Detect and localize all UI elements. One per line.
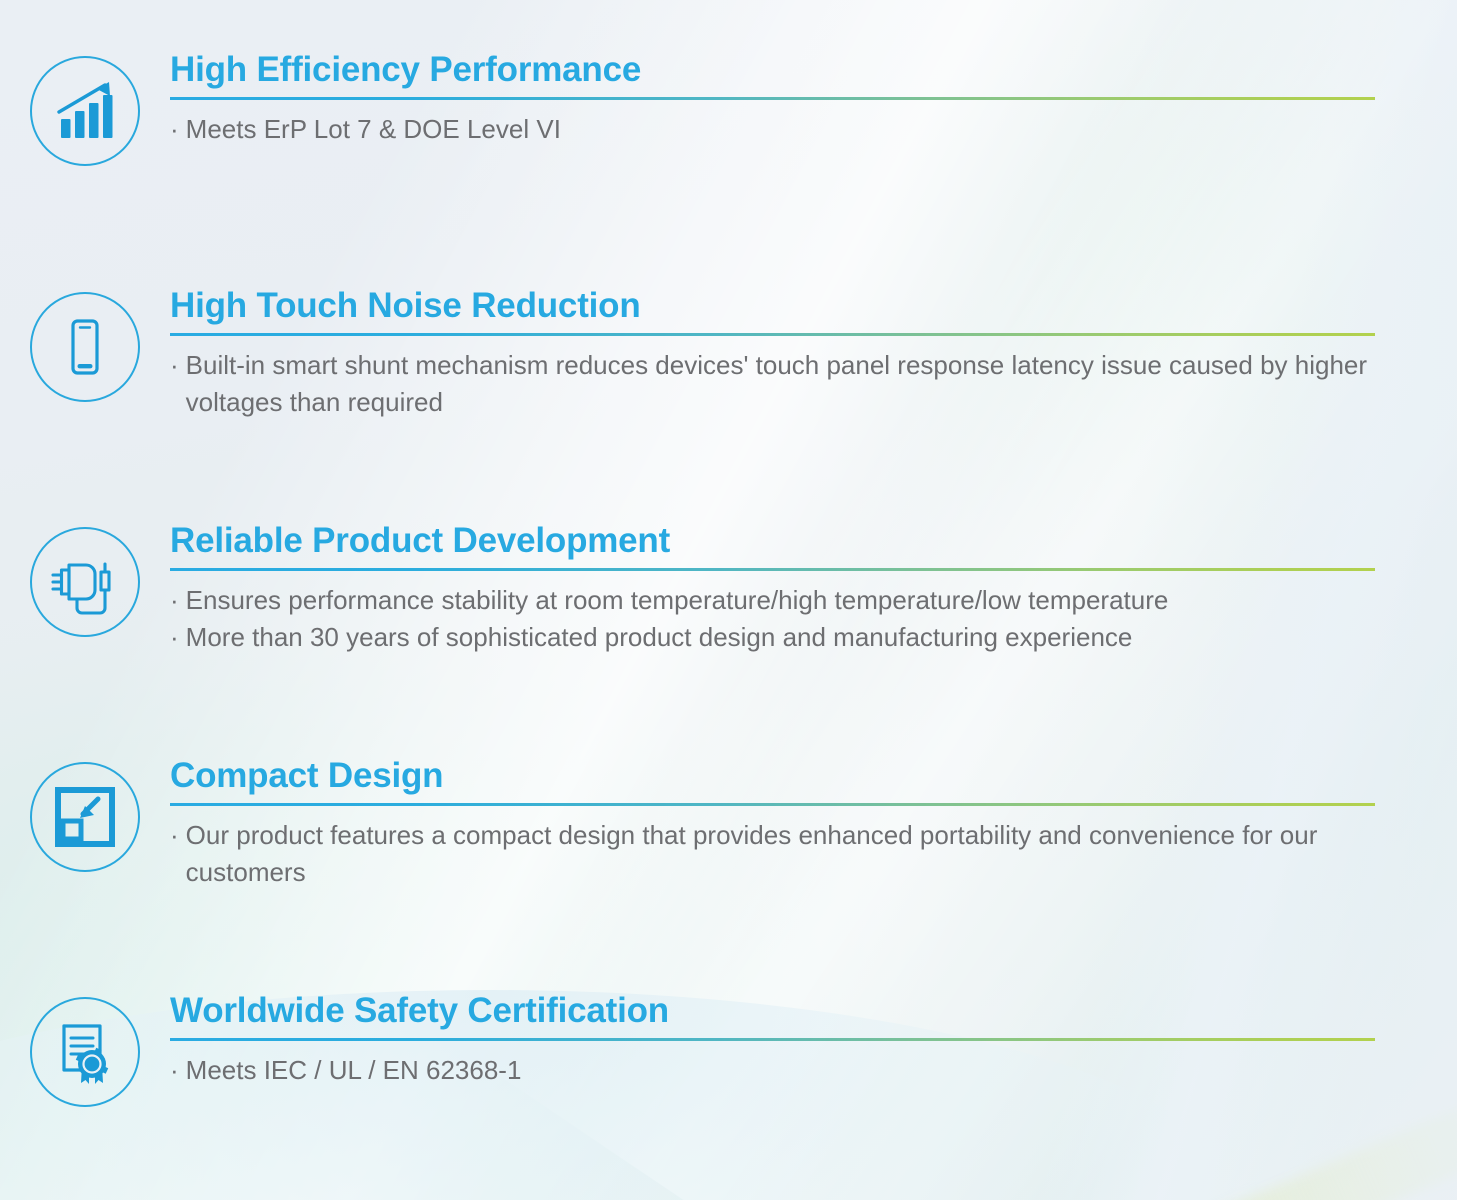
- feature-icon-container: [0, 288, 170, 402]
- certificate-seal-icon: [30, 997, 140, 1107]
- feature-bullet-list: · Ensures performance stability at room …: [170, 582, 1375, 656]
- bar-chart-growth-icon: [30, 56, 140, 166]
- bullet-marker: ·: [170, 1052, 179, 1089]
- bullet-text: Meets ErP Lot 7 & DOE Level VI: [186, 111, 1375, 148]
- feature-bullet-list: · Built-in smart shunt mechanism reduces…: [170, 347, 1375, 421]
- feature-body: High Efficiency Performance · Meets ErP …: [170, 52, 1457, 148]
- feature-divider: [170, 1038, 1375, 1041]
- bullet-text: Built-in smart shunt mechanism reduces d…: [186, 347, 1375, 421]
- compact-resize-icon: [30, 762, 140, 872]
- feature-title: Worldwide Safety Certification: [170, 993, 1375, 1028]
- bullet-marker: ·: [170, 619, 179, 656]
- feature-list-page: High Efficiency Performance · Meets ErP …: [0, 0, 1457, 1200]
- power-adapter-icon: [30, 527, 140, 637]
- feature-title: High Efficiency Performance: [170, 52, 1375, 87]
- feature-bullet-list: · Meets ErP Lot 7 & DOE Level VI: [170, 111, 1375, 148]
- feature-icon-container: [0, 993, 170, 1107]
- feature-bullet: · Ensures performance stability at room …: [170, 582, 1375, 619]
- bullet-marker: ·: [170, 111, 179, 148]
- bullet-text: More than 30 years of sophisticated prod…: [186, 619, 1375, 656]
- bullet-marker: ·: [170, 817, 179, 854]
- feature-icon-container: [0, 523, 170, 637]
- feature-body: Worldwide Safety Certification · Meets I…: [170, 993, 1457, 1089]
- feature-item-compact-design: Compact Design · Our product features a …: [0, 758, 1457, 891]
- feature-divider: [170, 333, 1375, 336]
- feature-bullet-list: · Meets IEC / UL / EN 62368-1: [170, 1052, 1375, 1089]
- feature-body: Compact Design · Our product features a …: [170, 758, 1457, 891]
- feature-divider: [170, 568, 1375, 571]
- smartphone-icon: [30, 292, 140, 402]
- feature-icon-container: [0, 758, 170, 872]
- feature-list: High Efficiency Performance · Meets ErP …: [0, 0, 1457, 1200]
- feature-bullet: · Meets ErP Lot 7 & DOE Level VI: [170, 111, 1375, 148]
- feature-item-reliable-product-development: Reliable Product Development · Ensures p…: [0, 523, 1457, 656]
- feature-divider: [170, 803, 1375, 806]
- feature-bullet: · Our product features a compact design …: [170, 817, 1375, 891]
- feature-bullet: · Meets IEC / UL / EN 62368-1: [170, 1052, 1375, 1089]
- bullet-marker: ·: [170, 582, 179, 619]
- feature-title: High Touch Noise Reduction: [170, 288, 1375, 323]
- feature-bullet: · Built-in smart shunt mechanism reduces…: [170, 347, 1375, 421]
- feature-body: High Touch Noise Reduction · Built-in sm…: [170, 288, 1457, 421]
- feature-item-high-efficiency-performance: High Efficiency Performance · Meets ErP …: [0, 52, 1457, 166]
- feature-item-high-touch-noise-reduction: High Touch Noise Reduction · Built-in sm…: [0, 288, 1457, 421]
- feature-item-worldwide-safety-certification: Worldwide Safety Certification · Meets I…: [0, 993, 1457, 1107]
- bullet-text: Our product features a compact design th…: [186, 817, 1375, 891]
- feature-divider: [170, 97, 1375, 100]
- feature-title: Compact Design: [170, 758, 1375, 793]
- feature-bullet: · More than 30 years of sophisticated pr…: [170, 619, 1375, 656]
- feature-icon-container: [0, 52, 170, 166]
- bullet-text: Ensures performance stability at room te…: [186, 582, 1375, 619]
- feature-bullet-list: · Our product features a compact design …: [170, 817, 1375, 891]
- feature-body: Reliable Product Development · Ensures p…: [170, 523, 1457, 656]
- feature-title: Reliable Product Development: [170, 523, 1375, 558]
- bullet-text: Meets IEC / UL / EN 62368-1: [186, 1052, 1375, 1089]
- bullet-marker: ·: [170, 347, 179, 384]
